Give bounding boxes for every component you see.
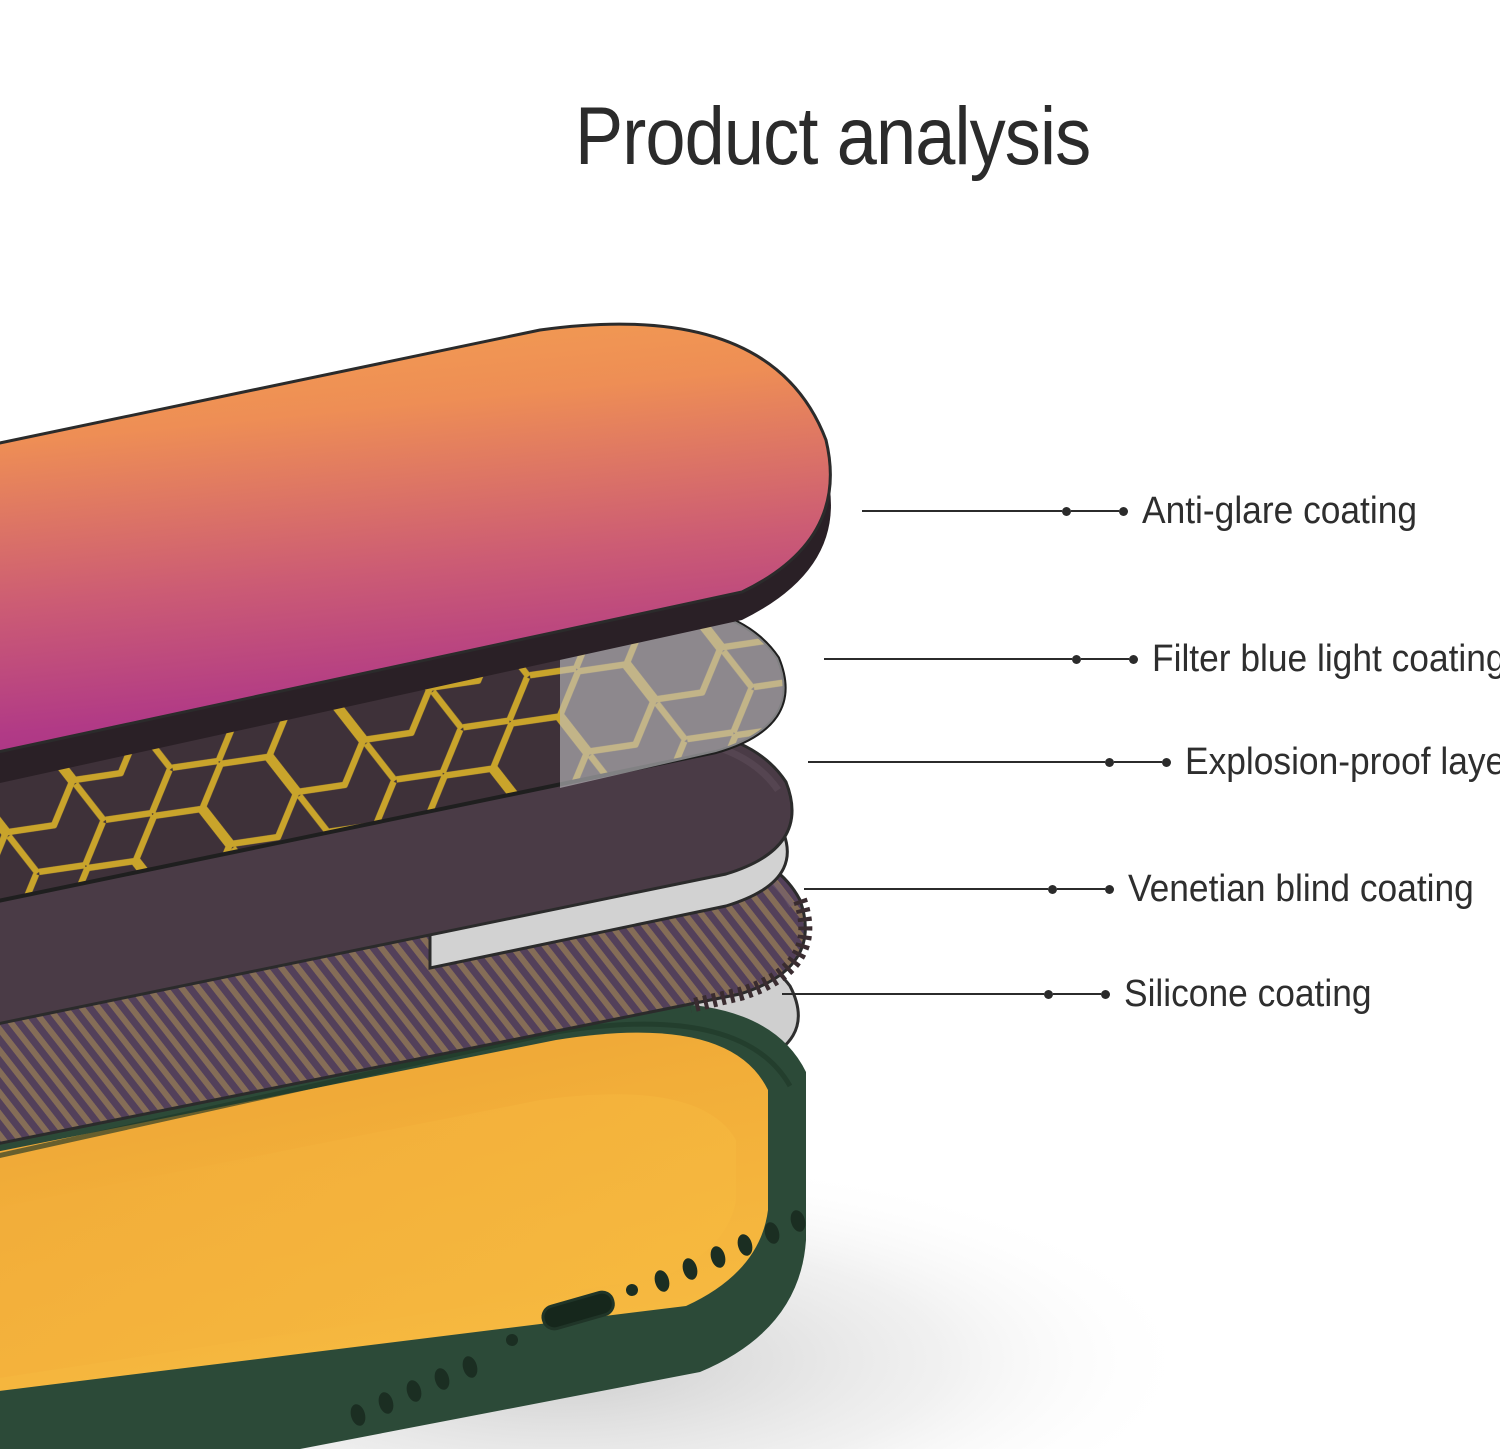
callout-label: Venetian blind coating — [1128, 868, 1474, 911]
leader-line-segment — [1057, 888, 1105, 890]
leader-line-segment — [862, 510, 1062, 512]
leader-dot-inner — [1105, 758, 1114, 767]
leader-dot-outer — [1105, 885, 1114, 894]
callout-filter-blue-light-coating[interactable]: Filter blue light coating — [824, 636, 1500, 682]
callout-label: Explosion-proof layer — [1185, 741, 1500, 784]
product-analysis-diagram: Product analysis — [0, 0, 1500, 1449]
callout-anti-glare-coating[interactable]: Anti-glare coating — [862, 488, 1438, 534]
callout-venetian-blind-coating[interactable]: Venetian blind coating — [804, 866, 1500, 912]
leader-line-segment — [808, 761, 1105, 763]
callout-label: Filter blue light coating — [1152, 638, 1500, 681]
leader-dot-inner — [1048, 885, 1057, 894]
leader-line-segment — [804, 888, 1048, 890]
callout-label: Silicone coating — [1124, 973, 1372, 1016]
leader-line-segment — [1053, 993, 1101, 995]
leader-line-segment — [824, 658, 1072, 660]
callout-explosion-proof-layer[interactable]: Explosion-proof layer — [808, 739, 1500, 785]
leader-dot-inner — [1072, 655, 1081, 664]
leader-dot-inner — [1062, 507, 1071, 516]
callout-silicone-coating[interactable]: Silicone coating — [782, 971, 1390, 1017]
leader-line-segment — [1114, 761, 1162, 763]
leader-line-segment — [1071, 510, 1119, 512]
leader-dot-inner — [1044, 990, 1053, 999]
leader-dot-outer — [1101, 990, 1110, 999]
leader-dot-outer — [1129, 655, 1138, 664]
exploded-layer-stack — [0, 0, 1500, 1449]
leader-line-segment — [1081, 658, 1129, 660]
leader-dot-outer — [1119, 507, 1128, 516]
leader-dot-outer — [1162, 758, 1171, 767]
leader-line-segment — [782, 993, 1044, 995]
callout-label: Anti-glare coating — [1142, 490, 1417, 533]
